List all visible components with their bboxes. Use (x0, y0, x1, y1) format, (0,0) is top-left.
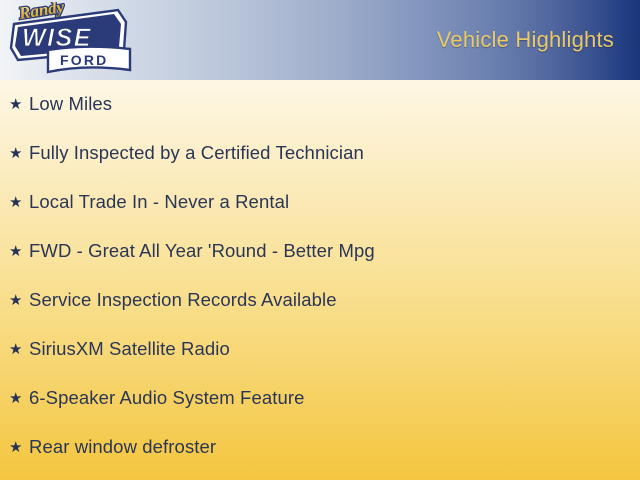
list-item: ★ SiriusXM Satellite Radio (0, 338, 640, 387)
star-icon: ★ (9, 342, 29, 357)
star-icon: ★ (9, 97, 29, 112)
star-icon: ★ (9, 293, 29, 308)
list-item-label: Service Inspection Records Available (29, 289, 337, 311)
list-item-label: 6-Speaker Audio System Feature (29, 387, 305, 409)
vehicle-highlights-list: ★ Low Miles ★ Fully Inspected by a Certi… (0, 93, 640, 480)
list-item-label: Local Trade In - Never a Rental (29, 191, 289, 213)
list-item: ★ Rear window defroster (0, 436, 640, 480)
list-item-label: Rear window defroster (29, 436, 216, 458)
list-item: ★ Local Trade In - Never a Rental (0, 191, 640, 240)
list-item: ★ Fully Inspected by a Certified Technic… (0, 142, 640, 191)
list-item: ★ Service Inspection Records Available (0, 289, 640, 338)
star-icon: ★ (9, 195, 29, 210)
vehicle-highlights-slide: WISE Randy Randy FORD Randy WISE FORD Ve… (0, 0, 640, 480)
list-item-label: Low Miles (29, 93, 112, 115)
list-item: ★ 6-Speaker Audio System Feature (0, 387, 640, 436)
star-icon: ★ (9, 440, 29, 455)
list-item: ★ Low Miles (0, 93, 640, 142)
star-icon: ★ (9, 391, 29, 406)
list-item-label: SiriusXM Satellite Radio (29, 338, 230, 360)
logo-banner-word: FORD (8, 78, 9, 79)
star-icon: ★ (9, 146, 29, 161)
list-item: ★ FWD - Great All Year 'Round - Better M… (0, 240, 640, 289)
header-bar: WISE Randy Randy FORD Randy WISE FORD Ve… (0, 0, 640, 80)
logo-main-word: WISE (8, 78, 9, 79)
page-title: Vehicle Highlights (437, 27, 614, 53)
list-item-label: Fully Inspected by a Certified Technicia… (29, 142, 364, 164)
logo-script-word: Randy (8, 78, 9, 79)
star-icon: ★ (9, 244, 29, 259)
randy-wise-ford-logo: WISE Randy Randy FORD Randy WISE FORD (8, 2, 138, 78)
list-item-label: FWD - Great All Year 'Round - Better Mpg (29, 240, 375, 262)
svg-text:FORD: FORD (60, 52, 108, 68)
